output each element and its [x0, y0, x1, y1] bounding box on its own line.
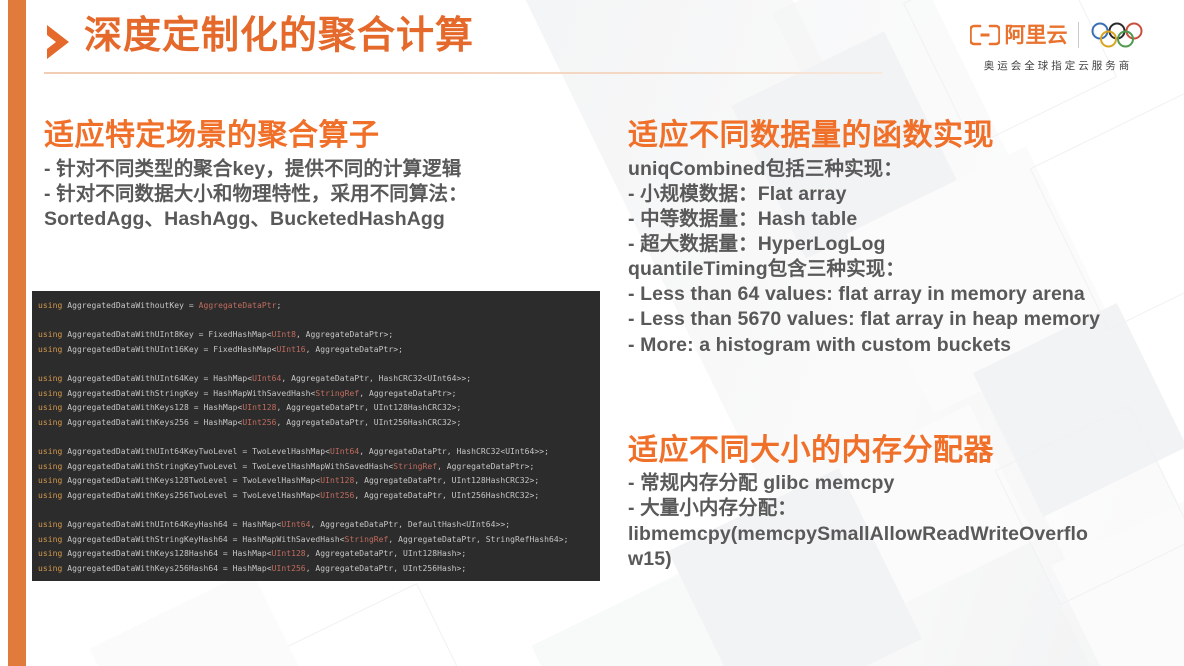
code-token: StringRef [315, 389, 359, 398]
code-token: using [38, 447, 62, 456]
code-token: using [38, 389, 62, 398]
code-token: , AggregateDataPtr, UInt128Hash>; [306, 549, 467, 558]
body-line: - Less than 64 values: flat array in mem… [628, 282, 1158, 307]
code-token: , AggregateDataPtr, HashCRC32<UInt64>>; [359, 447, 549, 456]
code-snippet-panel: using AggregatedDataWithoutKey = Aggrega… [32, 291, 600, 581]
brand-divider [1078, 22, 1079, 48]
code-token: , AggregateDataPtr, StringRefHash64>; [388, 535, 568, 544]
code-token: using [38, 330, 62, 339]
brand-tagline: 奥运会全球指定云服务商 [958, 58, 1158, 73]
code-token: using [38, 491, 62, 500]
code-token: , AggregateDataPtr, DefaultHash<UInt64>>… [311, 520, 511, 529]
code-token: AggregatedDataWithStringKeyTwoLevel = Tw… [62, 462, 393, 471]
code-token: AggregatedDataWithUInt64Key = HashMap< [62, 374, 252, 383]
code-token: , AggregateDataPtr, UInt128HashCRC32>; [276, 403, 461, 412]
body-line: - 小规模数据：Flat array [628, 182, 1158, 207]
code-line [38, 314, 600, 329]
code-token: , AggregateDataPtr, UInt256Hash>; [306, 564, 467, 573]
body-line: w15) [628, 547, 1158, 572]
code-token: AggregatedDataWithUInt64KeyHash64 = Hash… [62, 520, 281, 529]
right-column: 适应不同数据量的函数实现 uniqCombined包括三种实现： - 小规模数据… [628, 118, 1158, 572]
code-line: using AggregatedDataWithStringKeyHash64 … [38, 533, 600, 548]
body-line: - 针对不同类型的聚合key，提供不同的计算逻辑 [44, 157, 614, 182]
code-token: UInt128 [272, 549, 306, 558]
code-token: using [38, 564, 62, 573]
code-token: AggregatedDataWithoutKey = [62, 301, 198, 310]
chevron-right-icon [45, 22, 79, 62]
code-line: using AggregatedDataWithKeys128TwoLevel … [38, 474, 600, 489]
code-token: using [38, 374, 62, 383]
code-token: AggregateDataPtr [199, 301, 277, 310]
code-token: using [38, 418, 62, 427]
left-accent-bar [8, 0, 26, 666]
code-line: using AggregatedDataWithUInt8Key = Fixed… [38, 328, 600, 343]
memory-body: - 常规内存分配 glibc memcpy - 大量小内存分配： libmemc… [628, 471, 1158, 572]
body-line: - 超大数据量：HyperLogLog [628, 232, 1158, 257]
left-section-heading: 适应特定场景的聚合算子 [44, 118, 614, 155]
left-column: 适应特定场景的聚合算子 - 针对不同类型的聚合key，提供不同的计算逻辑 - 针… [44, 118, 614, 232]
code-token: StringRef [345, 535, 389, 544]
code-token: AggregatedDataWithKeys128Hash64 = HashMa… [62, 549, 271, 558]
body-line: uniqCombined包括三种实现： [628, 157, 1158, 182]
left-section-body: - 针对不同类型的聚合key，提供不同的计算逻辑 - 针对不同数据大小和物理特性… [44, 157, 614, 232]
code-token: AggregatedDataWithUInt64KeyTwoLevel = Tw… [62, 447, 330, 456]
code-token: UInt64 [252, 374, 281, 383]
code-token: using [38, 476, 62, 485]
code-token: UInt128 [320, 476, 354, 485]
code-token: using [38, 535, 62, 544]
code-token: using [38, 520, 62, 529]
code-token: AggregatedDataWithUInt8Key = FixedHashMa… [62, 330, 271, 339]
code-token: using [38, 403, 62, 412]
code-line: using AggregatedDataWithStringKeyTwoLeve… [38, 460, 600, 475]
slide-canvas: 深度定制化的聚合计算 阿里云 [0, 0, 1184, 666]
code-token: , AggregateDataPtr, UInt128HashCRC32>; [354, 476, 539, 485]
right-section-heading-functions: 适应不同数据量的函数实现 [628, 118, 1158, 155]
code-token: , AggregateDataPtr>; [306, 345, 403, 354]
body-line: - 常规内存分配 glibc memcpy [628, 471, 1158, 496]
body-line: - 针对不同数据大小和物理特性，采用不同算法： [44, 182, 614, 207]
code-token: UInt128 [242, 403, 276, 412]
code-token: , AggregateDataPtr, UInt256HashCRC32>; [354, 491, 539, 500]
code-token: using [38, 549, 62, 558]
code-token: AggregatedDataWithKeys256Hash64 = HashMa… [62, 564, 271, 573]
section-function-implementations: 适应不同数据量的函数实现 uniqCombined包括三种实现： - 小规模数据… [628, 118, 1158, 358]
alibaba-cloud-logo-icon: 阿里云 [970, 23, 1068, 47]
body-line: - 大量小内存分配： [628, 496, 1158, 521]
body-line: quantileTiming包含三种实现： [628, 257, 1158, 282]
section-memory-allocator: 适应不同大小的内存分配器 - 常规内存分配 glibc memcpy - 大量小… [628, 433, 1158, 572]
body-line: - 中等数据量：Hash table [628, 207, 1158, 232]
code-token: UInt64 [281, 520, 310, 529]
code-line: using AggregatedDataWithKeys256Hash64 = … [38, 562, 600, 577]
body-line: libmemcpy(memcpySmallAllowReadWriteOverf… [628, 522, 1158, 547]
brand-logo-block: 阿里云 奥运会全球指定云服务商 [958, 18, 1158, 78]
code-token: , AggregateDataPtr>; [296, 330, 393, 339]
code-token: AggregatedDataWithKeys256 = HashMap< [62, 418, 242, 427]
code-token: AggregatedDataWithKeys128TwoLevel = TwoL… [62, 476, 320, 485]
code-line [38, 357, 600, 372]
code-token: , AggregateDataPtr>; [437, 462, 534, 471]
code-token: , AggregateDataPtr, UInt256HashCRC32>; [276, 418, 461, 427]
code-line: using AggregatedDataWithStringKey = Hash… [38, 387, 600, 402]
code-line: using AggregatedDataWithUInt64Key = Hash… [38, 372, 600, 387]
right-section-heading-memory: 适应不同大小的内存分配器 [628, 433, 1158, 470]
code-token: UInt16 [276, 345, 305, 354]
code-line: using AggregatedDataWithUInt16Key = Fixe… [38, 343, 600, 358]
code-line: using AggregatedDataWithKeys256 = HashMa… [38, 416, 600, 431]
code-line: using AggregatedDataWithUInt64KeyHash64 … [38, 518, 600, 533]
code-token: AggregatedDataWithKeys128 = HashMap< [62, 403, 242, 412]
code-line [38, 430, 600, 445]
code-token: UInt8 [272, 330, 296, 339]
code-token: using [38, 301, 62, 310]
title-underline [44, 72, 882, 74]
code-token: UInt64 [330, 447, 359, 456]
code-line: using AggregatedDataWithKeys128Hash64 = … [38, 547, 600, 562]
brand-name: 阿里云 [1005, 25, 1068, 46]
code-token: using [38, 345, 62, 354]
slide-header: 深度定制化的聚合计算 阿里云 [0, 0, 1184, 90]
code-token: StringRef [393, 462, 437, 471]
code-token: UInt256 [320, 491, 354, 500]
code-token: using [38, 462, 62, 471]
body-line: - More: a histogram with custom buckets [628, 333, 1158, 358]
code-line [38, 503, 600, 518]
code-token: AggregatedDataWithUInt16Key = FixedHashM… [62, 345, 276, 354]
code-token: ; [276, 301, 281, 310]
olympic-rings-icon [1089, 22, 1147, 48]
code-token: AggregatedDataWithKeys256TwoLevel = TwoL… [62, 491, 320, 500]
code-line: using AggregatedDataWithoutKey = Aggrega… [38, 299, 600, 314]
code-token: UInt256 [242, 418, 276, 427]
body-line: SortedAgg、HashAgg、BucketedHashAgg [44, 207, 614, 232]
code-line: using AggregatedDataWithKeys256TwoLevel … [38, 489, 600, 504]
code-token: UInt256 [272, 564, 306, 573]
page-title: 深度定制化的聚合计算 [84, 12, 474, 61]
code-line: using AggregatedDataWithKeys128 = HashMa… [38, 401, 600, 416]
code-token: AggregatedDataWithStringKeyHash64 = Hash… [62, 535, 344, 544]
code-line: using AggregatedDataWithUInt64KeyTwoLeve… [38, 445, 600, 460]
code-token: AggregatedDataWithStringKey = HashMapWit… [62, 389, 315, 398]
code-token: , AggregateDataPtr>; [359, 389, 456, 398]
code-token: , AggregateDataPtr, HashCRC32<UInt64>>; [281, 374, 471, 383]
functions-body: uniqCombined包括三种实现： - 小规模数据：Flat array -… [628, 157, 1158, 358]
body-line: - Less than 5670 values: flat array in h… [628, 307, 1158, 332]
